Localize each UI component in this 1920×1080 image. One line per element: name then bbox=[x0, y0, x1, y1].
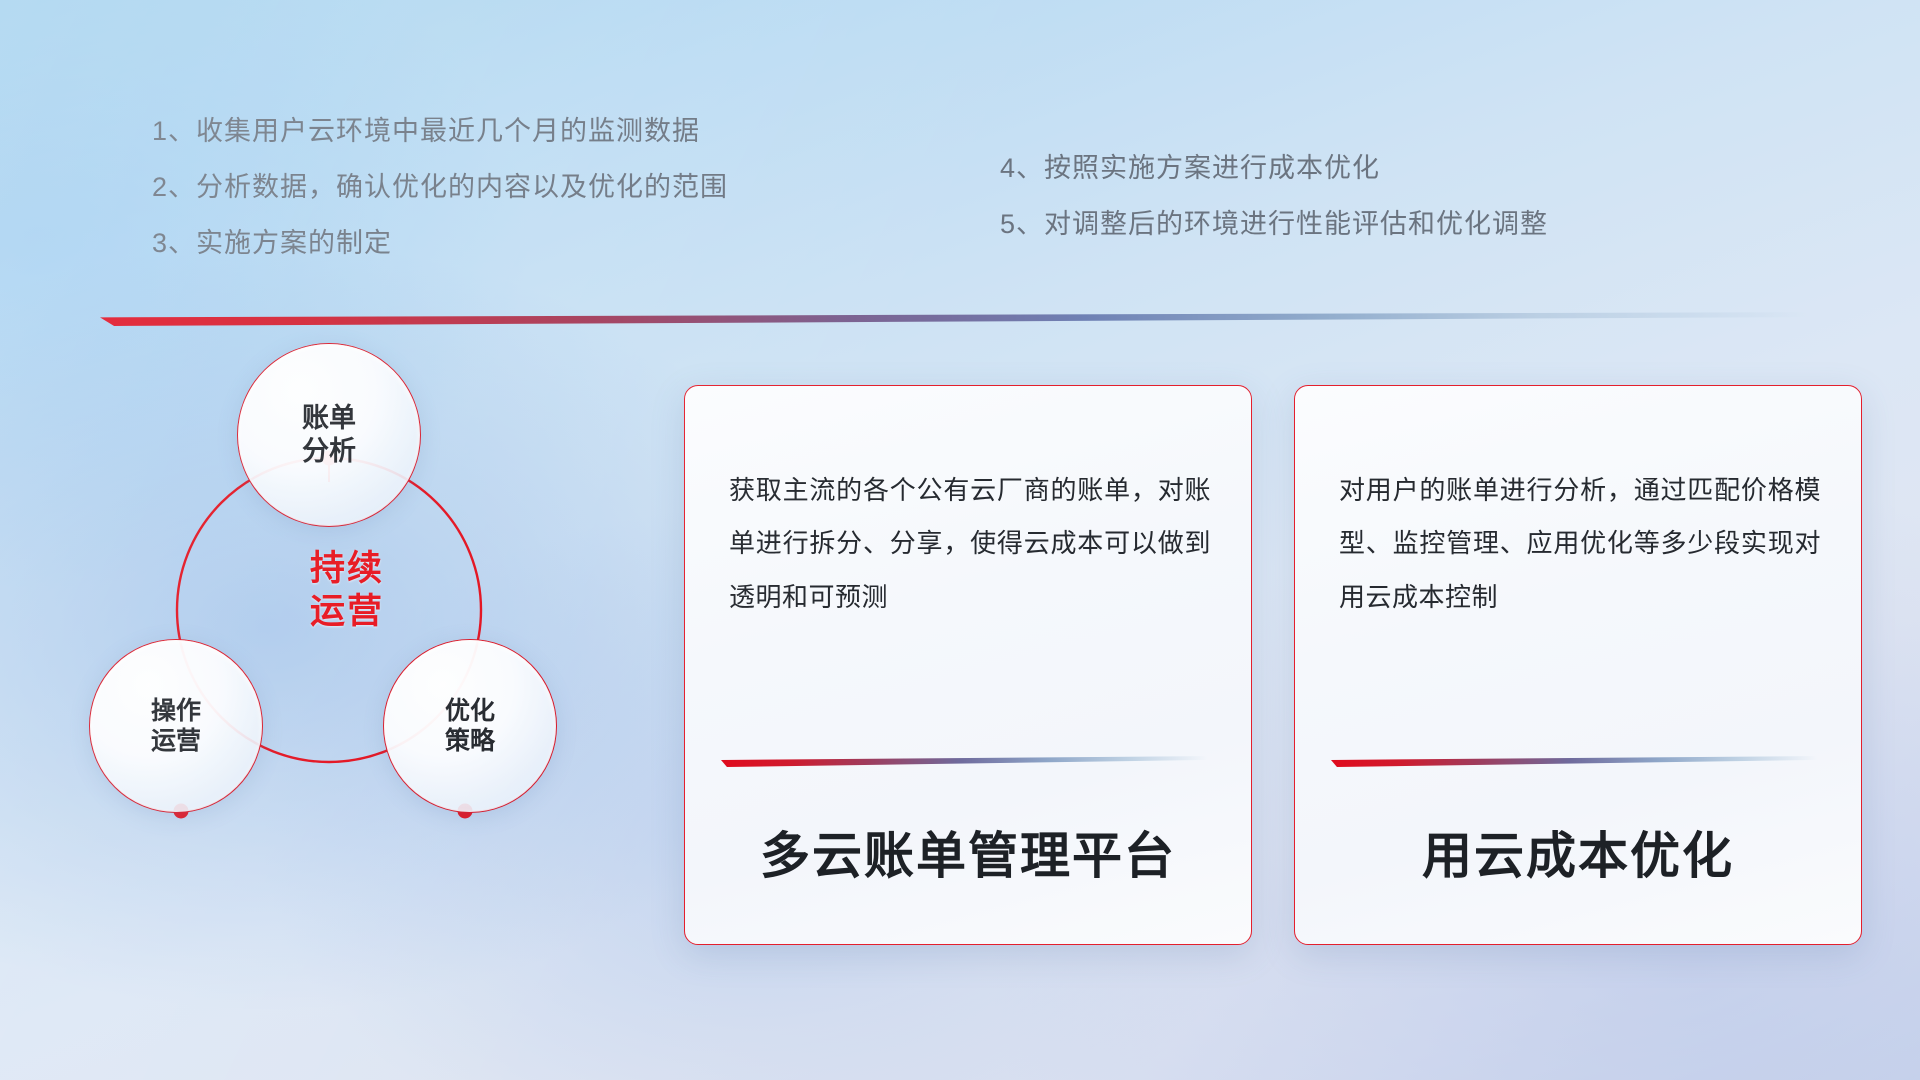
bubble-bill-analysis[interactable]: 账单 分析 bbox=[238, 344, 420, 526]
cycle-center-line1: 持续 bbox=[282, 548, 412, 591]
cycle-diagram: 账单 分析 操作 运营 优化 策略 持续 运营 bbox=[96, 352, 656, 972]
bubble-optimization-strategy[interactable]: 优化 策略 bbox=[384, 640, 556, 812]
bubble-operations[interactable]: 操作 运营 bbox=[90, 640, 262, 812]
steps-left-column: 1、收集用户云环境中最近几个月的监测数据 2、分析数据，确认优化的内容以及优化的… bbox=[152, 118, 728, 286]
step-item-1: 1、收集用户云环境中最近几个月的监测数据 bbox=[152, 118, 728, 145]
section-divider bbox=[100, 312, 1860, 326]
steps-right-column: 4、按照实施方案进行成本优化 5、对调整后的环境进行性能评估和优化调整 bbox=[1000, 155, 1548, 267]
cycle-center-label: 持续 运营 bbox=[282, 548, 412, 633]
step-item-3: 3、实施方案的制定 bbox=[152, 230, 728, 257]
divider-wedge bbox=[100, 312, 1860, 326]
bubble-optimization-line2: 策略 bbox=[445, 726, 495, 757]
cycle-center-line2: 运营 bbox=[282, 591, 412, 634]
feature-card-cloud-cost-optimization[interactable]: 对用户的账单进行分析，通过匹配价格模型、监控管理、应用优化等多少段实现对用云成本… bbox=[1294, 385, 1862, 945]
bubble-bill-analysis-line1: 账单 bbox=[302, 402, 356, 435]
feature-card-multi-cloud-bill-platform[interactable]: 获取主流的各个公有云厂商的账单，对账单进行拆分、分享，使得云成本可以做到透明和可… bbox=[684, 385, 1252, 945]
card-1-rule-wedge bbox=[721, 756, 1217, 767]
card-2-body: 对用户的账单进行分析，通过匹配价格模型、监控管理、应用优化等多少段实现对用云成本… bbox=[1339, 464, 1821, 624]
card-2-title: 用云成本优化 bbox=[1295, 816, 1861, 888]
step-item-2: 2、分析数据，确认优化的内容以及优化的范围 bbox=[152, 174, 728, 201]
card-2-rule-wedge bbox=[1331, 756, 1827, 767]
card-1-title: 多云账单管理平台 bbox=[685, 816, 1251, 888]
bubble-optimization-line1: 优化 bbox=[445, 696, 495, 727]
bubble-operations-line1: 操作 bbox=[151, 696, 201, 727]
card-1-body: 获取主流的各个公有云厂商的账单，对账单进行拆分、分享，使得云成本可以做到透明和可… bbox=[729, 464, 1211, 624]
step-item-5: 5、对调整后的环境进行性能评估和优化调整 bbox=[1000, 211, 1548, 238]
slide-canvas: 1、收集用户云环境中最近几个月的监测数据 2、分析数据，确认优化的内容以及优化的… bbox=[0, 0, 1920, 1080]
step-item-4: 4、按照实施方案进行成本优化 bbox=[1000, 155, 1548, 182]
bubble-operations-line2: 运营 bbox=[151, 726, 201, 757]
card-1-rule bbox=[721, 756, 1217, 767]
bubble-bill-analysis-line2: 分析 bbox=[302, 435, 356, 468]
card-2-rule bbox=[1331, 756, 1827, 767]
